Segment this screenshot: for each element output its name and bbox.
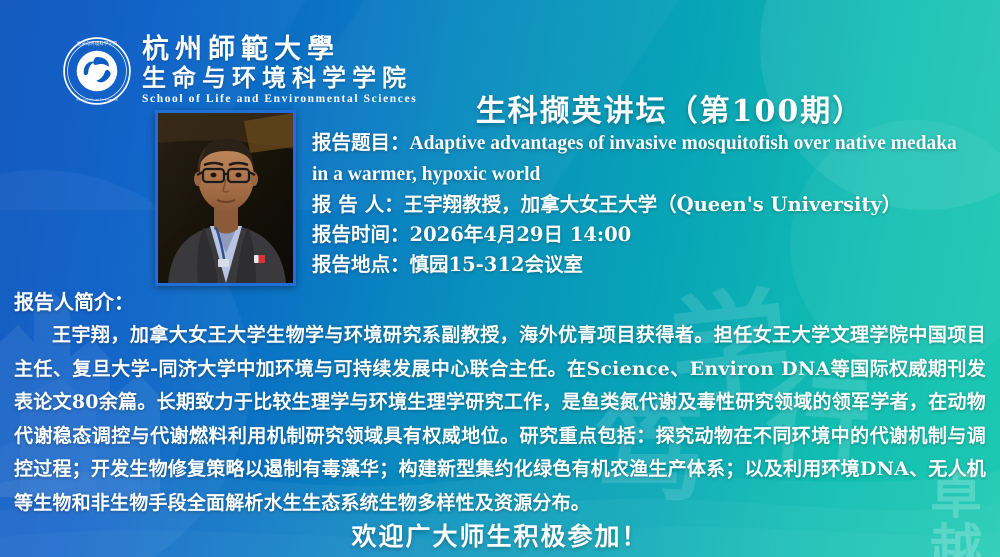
info-label-time: 报告时间： bbox=[312, 223, 410, 246]
lecture-info-block: 报告题目：Adaptive advantages of invasive mos… bbox=[312, 128, 972, 280]
university-logo-block: 生命与环境科学学院 School of Life and Environment… bbox=[62, 36, 417, 106]
seminar-poster: 学 笃 行 卓 越 生命与环境科学学院 School of Life and E… bbox=[0, 0, 1000, 557]
school-name-en: School of Life and Environmental Science… bbox=[142, 94, 417, 106]
bio-text: 王宇翔，加拿大女王大学生物学与环境研究系副教授，海外优青项目获得者。担任女王大学… bbox=[14, 319, 986, 520]
info-label-venue: 报告地点： bbox=[312, 253, 410, 276]
info-label-speaker: 报 告 人： bbox=[312, 193, 404, 216]
university-name: 杭州師範大學 生命与环境科学学院 School of Life and Envi… bbox=[142, 36, 417, 106]
info-value-title: Adaptive advantages of invasive mosquito… bbox=[312, 133, 957, 185]
university-crest-icon: 生命与环境科学学院 School of Life and Environment… bbox=[62, 36, 132, 106]
info-value-venue: 慎园15-312会议室 bbox=[410, 253, 583, 276]
info-value-speaker: 王宇翔教授，加拿大女王大学（Queen's University） bbox=[404, 193, 902, 216]
info-row: 报告地点：慎园15-312会议室 bbox=[312, 250, 972, 280]
speaker-bio-block: 报告人简介： 王宇翔，加拿大女王大学生物学与环境研究系副教授，海外优青项目获得者… bbox=[14, 286, 986, 520]
speaker-photo-frame bbox=[155, 110, 296, 286]
forum-title: 生科撷英讲坛（第100期） bbox=[455, 86, 885, 130]
university-name-cn-line1: 杭州師範大學 bbox=[142, 36, 417, 63]
university-name-cn-line2: 生命与环境科学学院 bbox=[142, 66, 417, 90]
info-row: 报 告 人：王宇翔教授，加拿大女王大学（Queen's University） bbox=[312, 190, 972, 220]
poster-header: 生命与环境科学学院 School of Life and Environment… bbox=[0, 34, 1000, 108]
info-row: 报告时间：2026年4月29日 14:00 bbox=[312, 220, 972, 250]
info-value-time: 2026年4月29日 14:00 bbox=[410, 223, 632, 246]
speaker-portrait bbox=[158, 113, 293, 283]
info-row: 报告题目：Adaptive advantages of invasive mos… bbox=[312, 128, 972, 190]
info-label-title: 报告题目： bbox=[312, 131, 410, 154]
welcome-message: 欢迎广大师生积极参加！ bbox=[0, 517, 1000, 553]
svg-text:School of Life and Environment: School of Life and Environmental bbox=[76, 97, 118, 101]
bio-heading: 报告人简介： bbox=[14, 286, 986, 315]
